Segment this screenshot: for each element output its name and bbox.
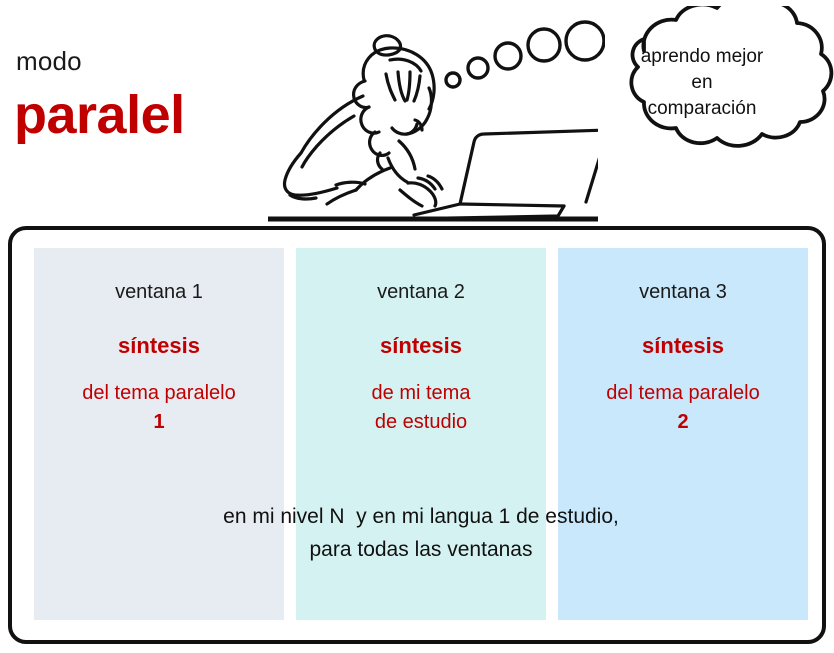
- window-2-desc-line-2: de estudio: [296, 408, 546, 437]
- window-2-description: de mi tema de estudio: [296, 379, 546, 437]
- window-column-3[interactable]: ventana 3 síntesis del tema paralelo 2: [558, 248, 808, 620]
- window-column-1[interactable]: ventana 1 síntesis del tema paralelo 1: [34, 248, 284, 620]
- windows-panel: ventana 1 síntesis del tema paralelo 1 v…: [8, 226, 826, 644]
- window-3-desc-line-1: del tema paralelo: [558, 379, 808, 408]
- thought-line-2: en: [604, 70, 800, 96]
- header: modo paralel: [0, 0, 834, 222]
- thought-line-3: comparación: [604, 96, 800, 122]
- window-3-description: del tema paralelo 2: [558, 379, 808, 437]
- window-1-synthesis: síntesis: [34, 333, 284, 359]
- window-columns: ventana 1 síntesis del tema paralelo 1 v…: [34, 248, 808, 620]
- window-3-synthesis: síntesis: [558, 333, 808, 359]
- page-title: paralel: [14, 88, 185, 142]
- window-column-2[interactable]: ventana 2 síntesis de mi tema de estudio: [296, 248, 546, 620]
- window-2-desc-line-1: de mi tema: [296, 379, 546, 408]
- window-3-desc-line-2: 2: [558, 408, 808, 437]
- window-3-title: ventana 3: [558, 280, 808, 304]
- mode-label: modo: [16, 48, 82, 74]
- window-2-synthesis: síntesis: [296, 333, 546, 359]
- window-2-title: ventana 2: [296, 280, 546, 304]
- thought-cloud-text: aprendo mejor en comparación: [604, 44, 800, 123]
- window-1-description: del tema paralelo 1: [34, 379, 284, 437]
- window-1-desc-line-1: del tema paralelo: [34, 379, 284, 408]
- window-1-title: ventana 1: [34, 280, 284, 304]
- window-1-desc-line-2: 1: [34, 408, 284, 437]
- thought-line-1: aprendo mejor: [604, 44, 800, 70]
